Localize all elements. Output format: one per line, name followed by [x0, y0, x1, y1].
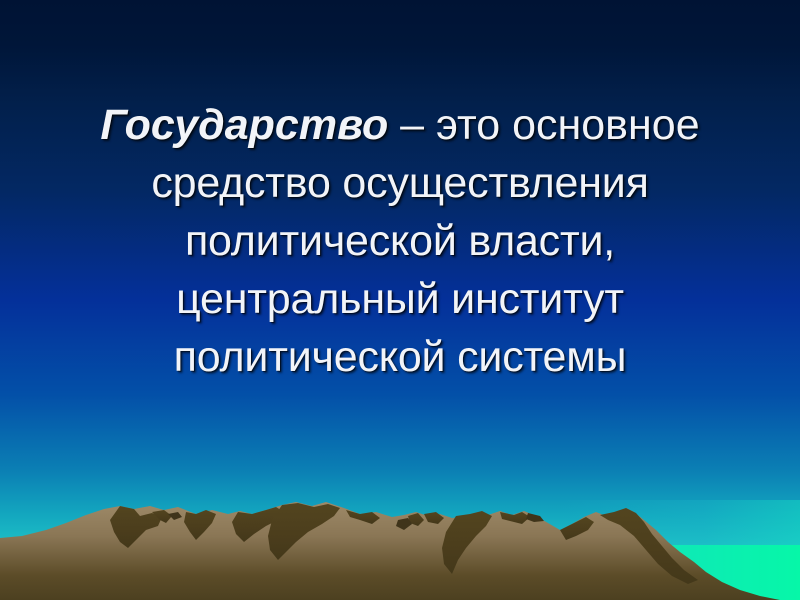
presentation-slide: Государство – это основное средство осущ… [0, 0, 800, 600]
text-line-1: Государство – это основное [40, 96, 760, 154]
text-line-5: политической системы [40, 328, 760, 386]
text-line-4: центральный институт [40, 270, 760, 328]
slide-body-text: Государство – это основное средство осущ… [40, 96, 760, 386]
keyword-gosudarstvo: Государство [100, 101, 388, 149]
text-line-3: политической власти, [40, 212, 760, 270]
text-line-1-rest: – это основное [388, 101, 699, 149]
text-line-2: средство осуществления [40, 154, 760, 212]
mountain-range-silhouette [0, 490, 800, 600]
